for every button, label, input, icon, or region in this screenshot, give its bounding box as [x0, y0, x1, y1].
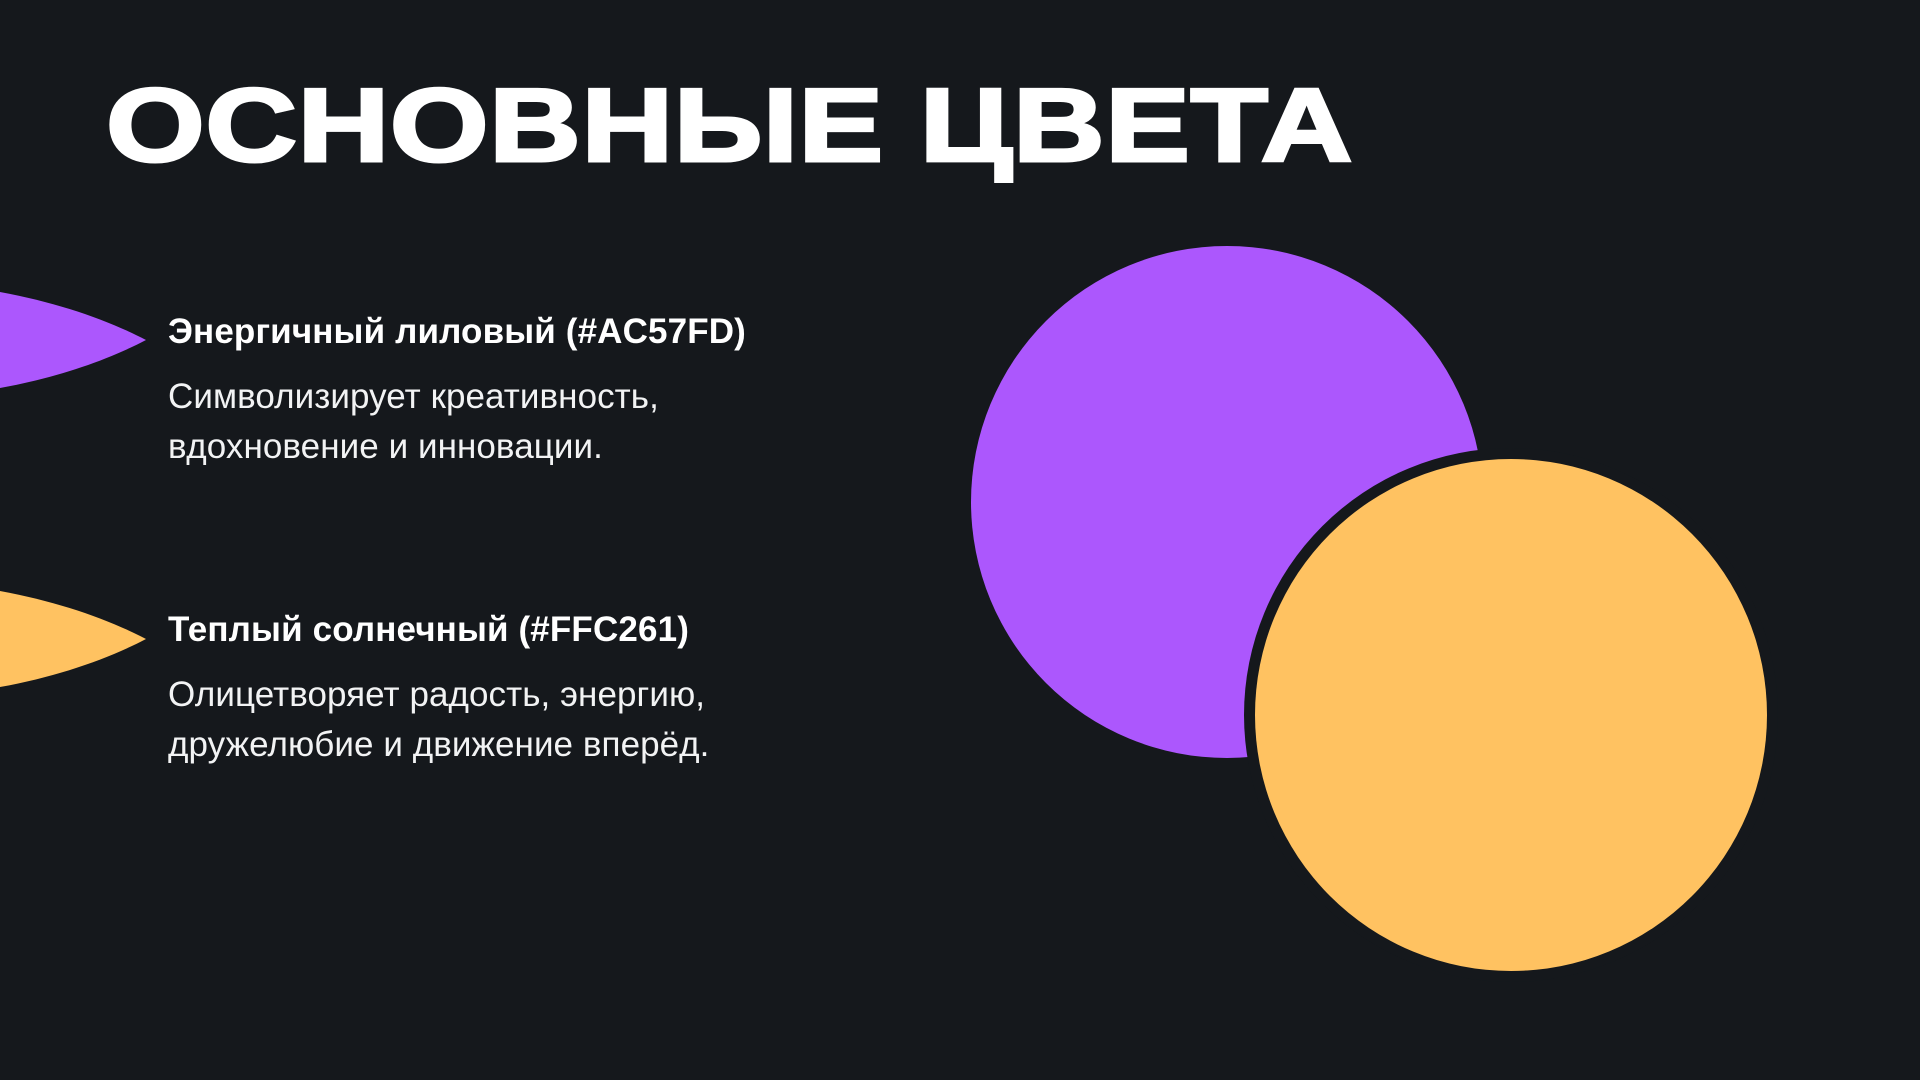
description-line-2: дружелюбие и движение вперёд. [168, 725, 709, 764]
description-line-2: вдохновение и инновации. [168, 427, 603, 466]
color-item-purple-description: Символизирует креативность,вдохновение и… [168, 372, 858, 472]
page-title: ОСНОВНЫЕ ЦВЕТА [106, 76, 1920, 176]
color-item-orange: Теплый солнечный (#FFC261) Олицетворяет … [168, 608, 928, 770]
leaf-marker-icon-orange [0, 580, 146, 698]
color-item-orange-description: Олицетворяет радость, энергию,дружелюбие… [168, 670, 858, 770]
color-item-orange-heading: Теплый солнечный (#FFC261) [168, 608, 928, 652]
color-item-purple-heading: Энергичный лиловый (#AC57FD) [168, 310, 928, 354]
color-item-purple: Энергичный лиловый (#AC57FD) Символизиру… [168, 310, 928, 472]
slide-canvas: ОСНОВНЫЕ ЦВЕТА Энергичный лиловый (#AC57… [0, 0, 1920, 1080]
leaf-marker-icon-purple [0, 281, 146, 399]
orange-swatch-circle [1255, 459, 1767, 971]
description-line-1: Символизирует креативность, [168, 377, 659, 416]
description-line-1: Олицетворяет радость, энергию, [168, 675, 705, 714]
